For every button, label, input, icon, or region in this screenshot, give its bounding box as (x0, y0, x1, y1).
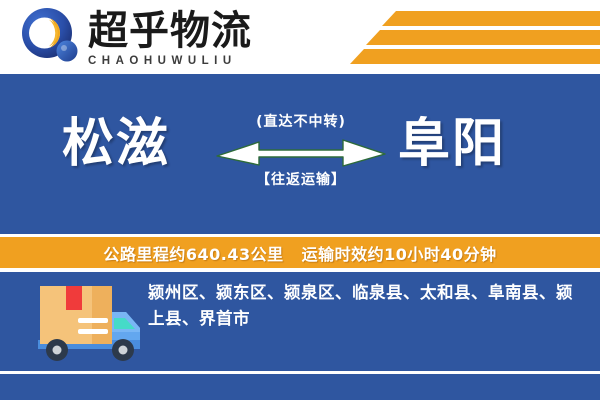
header-stripe-1 (382, 11, 600, 26)
logistics-circle-logo-icon (20, 6, 82, 68)
route-note-roundtrip: 【往返运输】 (215, 170, 387, 190)
header-stripe-3 (350, 49, 600, 64)
route-middle-group: (直达不中转) 【往返运输】 (215, 112, 387, 196)
arrow-svg (215, 136, 387, 168)
coverage-divider (0, 371, 600, 374)
logo-svg (20, 6, 82, 68)
bidirectional-arrow-icon (215, 136, 387, 168)
brand-wordmark: 超乎物流 CHAOHUWULIU (88, 7, 252, 68)
origin-city-label: 松滋 (62, 114, 170, 174)
route-panel: 松滋 (直达不中转) 【往返运输】 阜阳 (0, 74, 600, 234)
duration-label: 运输时效约10小时40分钟 (302, 241, 497, 265)
coverage-areas-list: 颍州区、颍东区、颍泉区、临泉县、太和县、阜南县、颍上县、界首市 (148, 280, 588, 332)
brand-name-en: CHAOHUWULIU (88, 54, 252, 68)
banner-header: 超乎物流 CHAOHUWULIU (0, 0, 600, 74)
destination-city-label: 阜阳 (398, 114, 506, 174)
brand-name-cn: 超乎物流 (88, 9, 252, 53)
distance-label: 公路里程约640.43公里 (103, 241, 283, 265)
route-note-direct: (直达不中转) (215, 112, 387, 132)
truck-svg (22, 282, 147, 368)
brand-logo-group[interactable]: 超乎物流 CHAOHUWULIU (20, 6, 252, 68)
header-stripe-2 (366, 30, 600, 45)
logistics-route-banner: 超乎物流 CHAOHUWULIU 松滋 (直达不中转) 【往返运输】 阜阳 公路… (0, 0, 600, 400)
coverage-panel: 颍州区、颍东区、颍泉区、临泉县、太和县、阜南县、颍上县、界首市 (0, 272, 600, 400)
delivery-truck-icon (22, 282, 147, 368)
route-info-bar: 公路里程约640.43公里 运输时效约10小时40分钟 (0, 237, 600, 268)
